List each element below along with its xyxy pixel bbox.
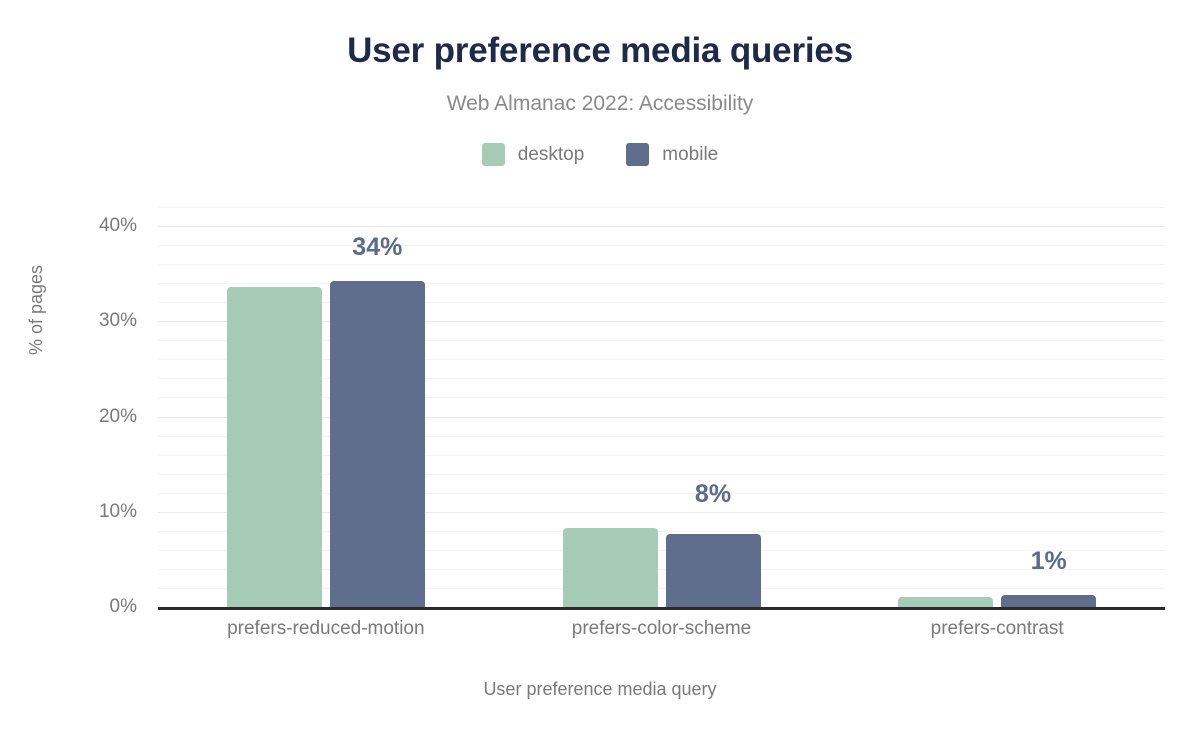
x-axis-tick-label: prefers-contrast: [931, 618, 1064, 640]
x-axis-line: [158, 607, 1165, 610]
gridline-minor: [158, 207, 1165, 208]
bar-value-label: 34%: [352, 233, 402, 262]
bar-value-label: 1%: [1031, 547, 1067, 576]
gridline-major: [158, 226, 1165, 227]
bar-desktop-prefers-reduced-motion[interactable]: [227, 287, 322, 607]
legend-item-mobile[interactable]: mobile: [626, 143, 718, 166]
plot-area: 0%10%20%30%40%34%8%1%: [158, 207, 1165, 607]
x-axis-tick-label: prefers-reduced-motion: [227, 618, 424, 640]
bar-desktop-prefers-contrast[interactable]: [898, 597, 993, 607]
y-axis-title: % of pages: [26, 265, 47, 355]
chart-subtitle: Web Almanac 2022: Accessibility: [0, 92, 1200, 116]
y-axis-tick-label: 20%: [17, 406, 137, 428]
gridline-minor: [158, 245, 1165, 246]
legend-swatch-icon: [626, 143, 649, 166]
y-axis-tick-label: 10%: [17, 501, 137, 523]
bar-value-label: 8%: [695, 480, 731, 509]
legend-label: desktop: [518, 144, 585, 166]
legend-swatch-icon: [482, 143, 505, 166]
gridline-minor: [158, 264, 1165, 265]
bar-desktop-prefers-color-scheme[interactable]: [563, 528, 658, 607]
bar-mobile-prefers-reduced-motion[interactable]: [330, 281, 425, 607]
y-axis-tick-label: 40%: [17, 215, 137, 237]
chart-legend: desktopmobile: [0, 143, 1200, 166]
bar-mobile-prefers-color-scheme[interactable]: [666, 534, 761, 607]
x-axis-title: User preference media query: [0, 679, 1200, 700]
chart-container: User preference media queries Web Almana…: [0, 0, 1200, 742]
legend-label: mobile: [662, 144, 718, 166]
bar-mobile-prefers-contrast[interactable]: [1001, 595, 1096, 607]
chart-title: User preference media queries: [0, 31, 1200, 71]
y-axis-tick-label: 0%: [17, 596, 137, 618]
gridline-minor: [158, 283, 1165, 284]
legend-item-desktop[interactable]: desktop: [482, 143, 585, 166]
x-axis-tick-label: prefers-color-scheme: [572, 618, 752, 640]
